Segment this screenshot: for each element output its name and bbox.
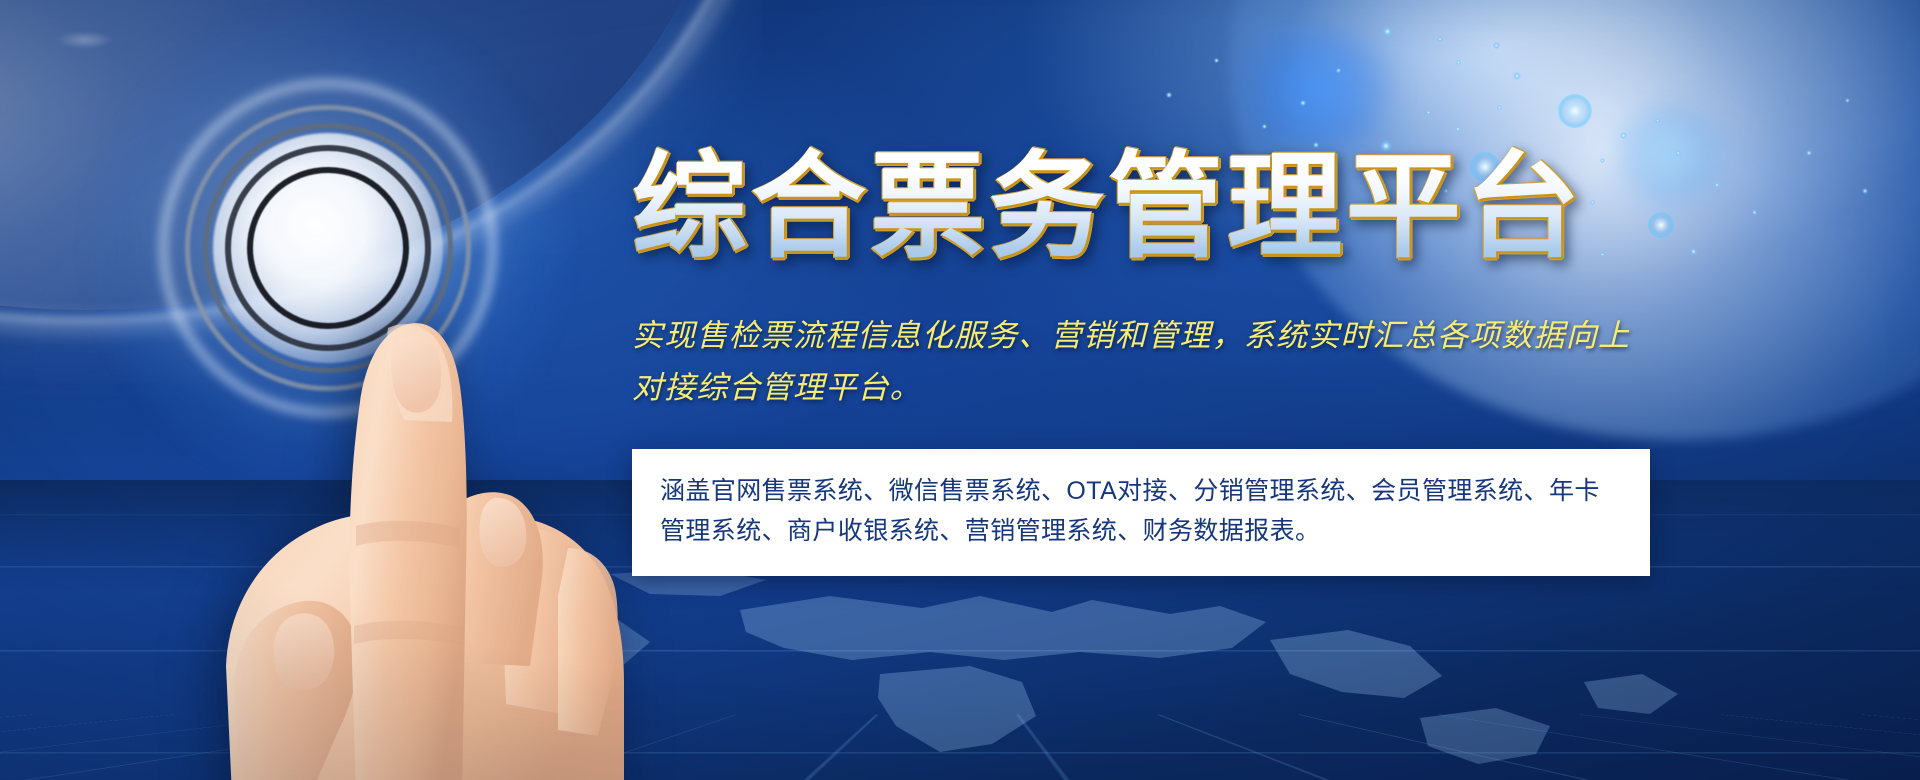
vignette-overlay: [0, 0, 1920, 780]
ticketing-platform-banner: 综合票务管理平台 实现售检票流程信息化服务、营销和管理，系统实时汇总各项数据向上…: [0, 0, 1920, 780]
